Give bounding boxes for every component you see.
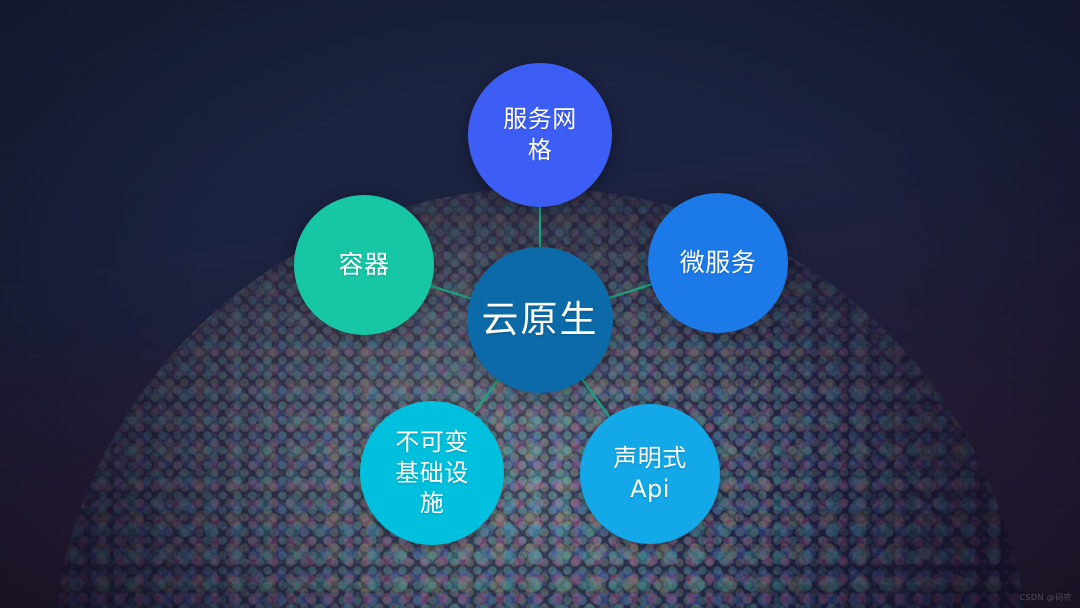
node-microservices[interactable]: 微服务 xyxy=(648,193,788,333)
node-declarative-api[interactable]: 声明式 Api xyxy=(580,404,720,544)
node-label-cloud-native: 云原生 xyxy=(472,297,609,344)
node-cloud-native[interactable]: 云原生 xyxy=(467,247,613,393)
node-immutable-infrastructure[interactable]: 不可变 基础设 施 xyxy=(360,401,504,545)
node-label-service-mesh: 服务网 格 xyxy=(493,104,587,165)
connector-container xyxy=(429,285,472,299)
connector-immutable-infrastructure xyxy=(472,378,499,416)
node-label-container: 容器 xyxy=(328,249,399,281)
connector-microservices xyxy=(608,284,654,299)
connector-declarative-api xyxy=(581,378,610,419)
node-label-declarative-api: 声明式 Api xyxy=(603,443,697,504)
watermark: CSDN @码农 xyxy=(1019,592,1072,603)
cloud-native-diagram: 服务网 格容器微服务不可变 基础设 施声明式 Api云原生 xyxy=(0,0,1080,608)
node-service-mesh[interactable]: 服务网 格 xyxy=(468,63,612,207)
node-label-microservices: 微服务 xyxy=(670,247,767,279)
slide-canvas: 服务网 格容器微服务不可变 基础设 施声明式 Api云原生 CSDN @码农 xyxy=(0,0,1080,608)
node-label-immutable-infrastructure: 不可变 基础设 施 xyxy=(385,427,479,519)
node-container[interactable]: 容器 xyxy=(294,195,434,335)
